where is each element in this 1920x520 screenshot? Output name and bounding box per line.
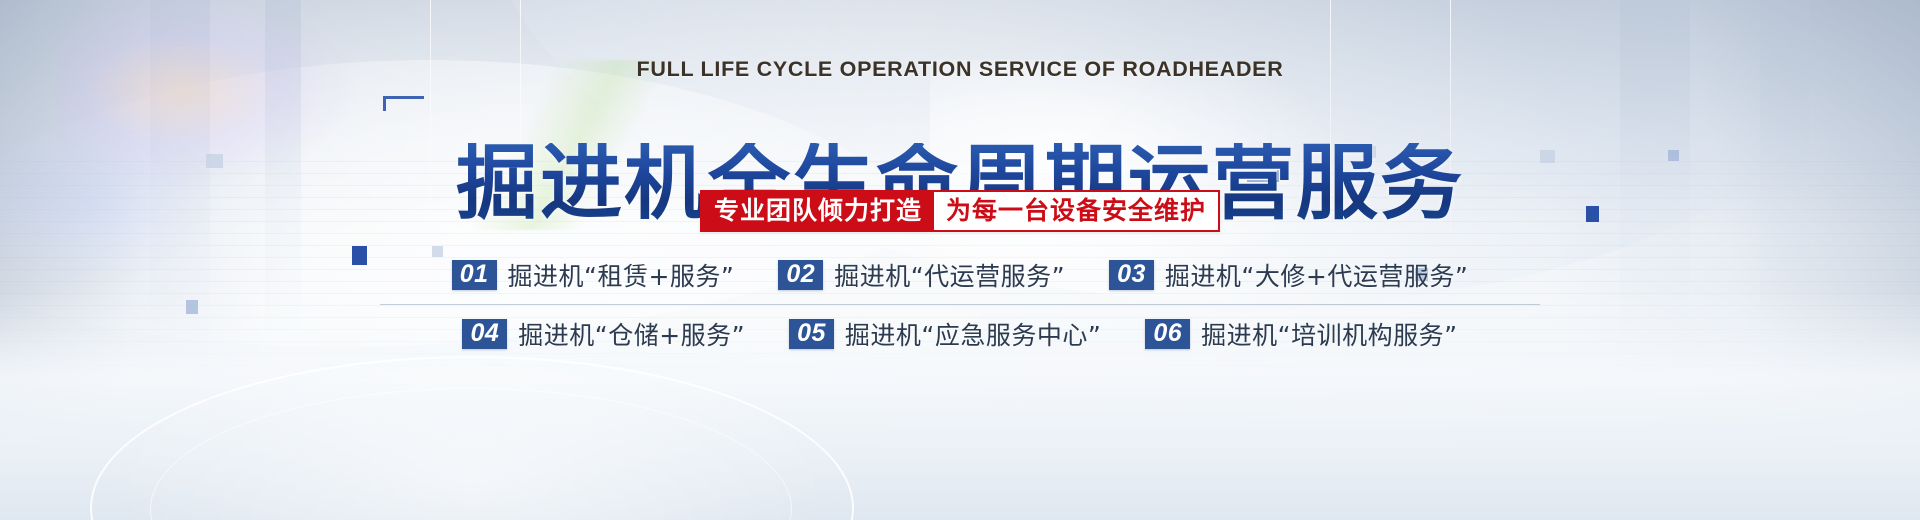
slogan-right-text: 为每一台设备安全维护 <box>934 192 1218 230</box>
service-number-badge: 05 <box>789 319 834 349</box>
roadheader-service-banner: FULL LIFE CYCLE OPERATION SERVICE OF ROA… <box>0 0 1920 520</box>
banner-content: FULL LIFE CYCLE OPERATION SERVICE OF ROA… <box>0 0 1920 520</box>
service-item-06[interactable]: 06 掘进机“培训机构服务” <box>1145 316 1457 352</box>
service-row-1: 01 掘进机“租赁+服务” 02 掘进机“代运营服务” 03 掘进机“大修+代运… <box>380 246 1540 305</box>
slogan-row: 专业团队倾力打造 为每一台设备安全维护 <box>0 190 1920 232</box>
service-label: 掘进机“培训机构服务” <box>1201 316 1457 352</box>
service-number-badge: 06 <box>1145 319 1190 349</box>
service-item-02[interactable]: 02 掘进机“代运营服务” <box>778 257 1065 293</box>
service-row-2: 04 掘进机“仓储+服务” 05 掘进机“应急服务中心” 06 掘进机“培训机构… <box>0 305 1920 363</box>
service-item-03[interactable]: 03 掘进机“大修+代运营服务” <box>1109 257 1468 293</box>
service-number-badge: 01 <box>452 260 497 290</box>
service-number-badge: 04 <box>462 319 507 349</box>
service-item-05[interactable]: 05 掘进机“应急服务中心” <box>789 316 1101 352</box>
slogan-box: 专业团队倾力打造 为每一台设备安全维护 <box>700 190 1220 232</box>
service-label: 掘进机“仓储+服务” <box>518 316 745 352</box>
service-number-badge: 02 <box>778 260 823 290</box>
service-label: 掘进机“代运营服务” <box>834 257 1065 293</box>
service-item-01[interactable]: 01 掘进机“租赁+服务” <box>452 257 735 293</box>
english-subtitle: FULL LIFE CYCLE OPERATION SERVICE OF ROA… <box>0 57 1920 82</box>
service-item-04[interactable]: 04 掘进机“仓储+服务” <box>462 316 745 352</box>
service-label: 掘进机“大修+代运营服务” <box>1165 257 1468 293</box>
service-number-badge: 03 <box>1109 260 1154 290</box>
slogan-left-text: 专业团队倾力打造 <box>702 192 934 230</box>
service-label: 掘进机“应急服务中心” <box>845 316 1101 352</box>
service-label: 掘进机“租赁+服务” <box>508 257 735 293</box>
service-list: 01 掘进机“租赁+服务” 02 掘进机“代运营服务” 03 掘进机“大修+代运… <box>0 246 1920 363</box>
